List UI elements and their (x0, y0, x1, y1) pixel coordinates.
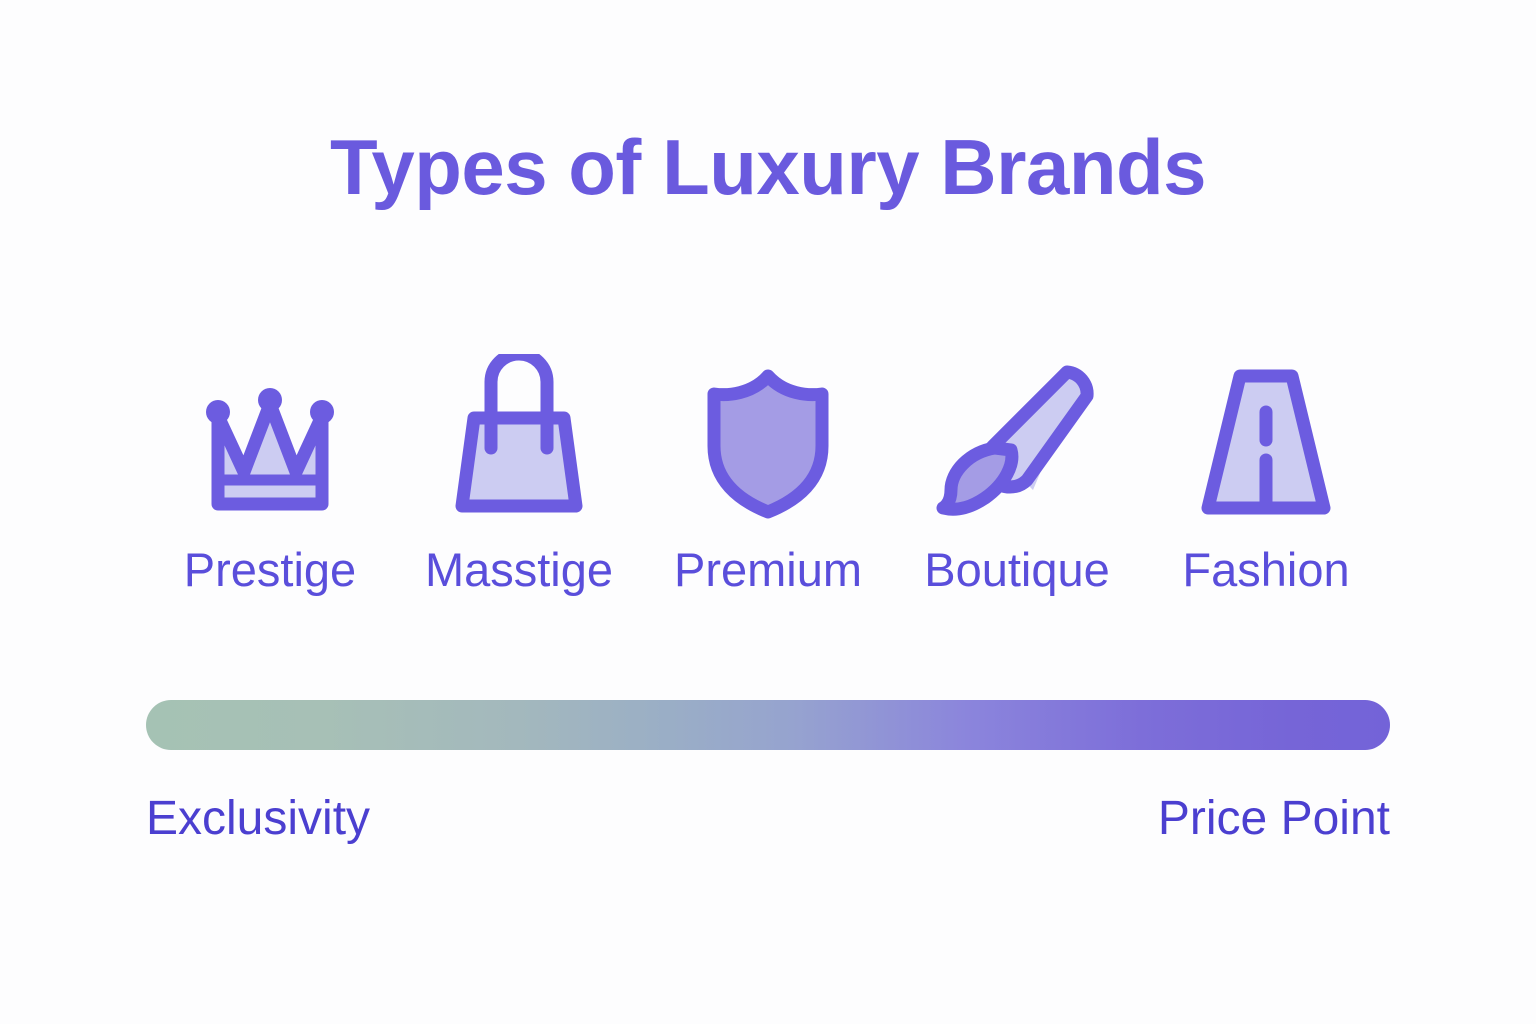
road-icon (1171, 352, 1361, 532)
brand-label-premium: Premium (674, 546, 862, 593)
brand-item-fashion[interactable]: Fashion (1142, 352, 1390, 593)
infographic-canvas: Types of Luxury Brands Prestige (0, 0, 1536, 1024)
brand-item-prestige[interactable]: Prestige (146, 352, 394, 593)
crown-icon (175, 352, 365, 532)
brand-type-row: Prestige Masstige (146, 352, 1390, 593)
shield-icon (673, 352, 863, 532)
brand-label-prestige: Prestige (184, 546, 356, 593)
brand-label-fashion: Fashion (1182, 546, 1349, 593)
brand-item-masstige[interactable]: Masstige (395, 352, 643, 593)
brand-label-boutique: Boutique (924, 546, 1110, 593)
spectrum-axis-labels: Exclusivity Price Point (146, 795, 1390, 843)
axis-label-exclusivity: Exclusivity (146, 795, 370, 843)
page-title: Types of Luxury Brands (0, 128, 1536, 206)
shopping-bag-icon (424, 352, 614, 532)
spectrum-gradient-bar (146, 700, 1390, 750)
paintbrush-icon (922, 352, 1112, 532)
axis-label-price-point: Price Point (1158, 795, 1390, 843)
brand-item-premium[interactable]: Premium (644, 352, 892, 593)
brand-item-boutique[interactable]: Boutique (893, 352, 1141, 593)
brand-label-masstige: Masstige (425, 546, 613, 593)
